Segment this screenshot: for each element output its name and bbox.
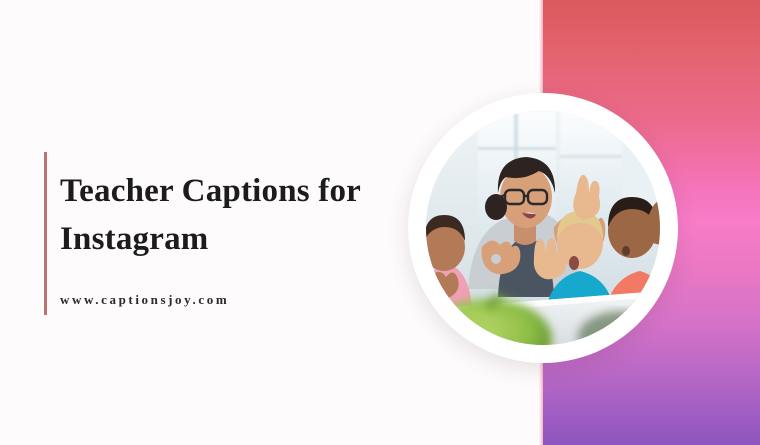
text-block: Teacher Captions for Instagram www.capti…: [60, 168, 400, 308]
classroom-photo-illustration: [426, 111, 660, 345]
site-url: www.captionsjoy.com: [60, 292, 400, 308]
page-title: Teacher Captions for Instagram: [60, 168, 400, 264]
blog-header-banner: Teacher Captions for Instagram www.capti…: [0, 0, 760, 445]
classroom-photo: [426, 111, 660, 345]
photo-ring: [408, 93, 678, 363]
accent-bar: [44, 152, 47, 315]
